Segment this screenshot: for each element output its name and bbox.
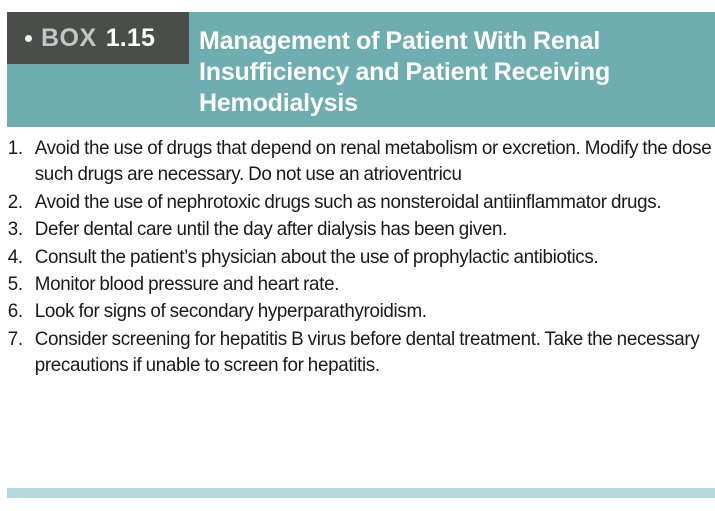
- list-item: 5. Monitor blood pressure and heart rate…: [0, 271, 715, 297]
- footer-rule: [7, 488, 715, 498]
- list-item-marker: 7.: [8, 326, 33, 352]
- bullet-dot-icon: [25, 35, 32, 42]
- list-item-text: Avoid the use of nephrotoxic drugs such …: [35, 189, 715, 215]
- list-item-text: Defer dental care until the day after di…: [35, 216, 715, 242]
- list-item: 3. Defer dental care until the day after…: [0, 216, 715, 242]
- list-item: 7. Consider screening for hepatitis B vi…: [0, 326, 715, 379]
- box-number-label: BOX 1.15: [7, 12, 189, 64]
- list-item: 1. Avoid the use of drugs that depend on…: [0, 135, 715, 188]
- box-label-number: 1.15: [106, 24, 155, 53]
- list-item-text: Monitor blood pressure and heart rate.: [35, 271, 715, 297]
- list-item: 6. Look for signs of secondary hyperpara…: [0, 298, 715, 324]
- list-item: 4. Consult the patient’s physician about…: [0, 244, 715, 270]
- list-item-text: Avoid the use of drugs that depend on re…: [35, 135, 715, 188]
- list-item: 2. Avoid the use of nephrotoxic drugs su…: [0, 189, 715, 215]
- list-item-marker: 2.: [8, 189, 33, 215]
- box-header-band: BOX 1.15 Management of Patient With Rena…: [7, 12, 715, 127]
- list-item-text: Consider screening for hepatitis B virus…: [35, 326, 715, 379]
- box-title: Management of Patient With Renal Insuffi…: [199, 26, 715, 119]
- recommendation-list: 1. Avoid the use of drugs that depend on…: [0, 135, 715, 379]
- box-label-word: BOX: [41, 24, 97, 53]
- box-figure: BOX 1.15 Management of Patient With Rena…: [0, 0, 715, 511]
- box-body: 1. Avoid the use of drugs that depend on…: [0, 135, 715, 380]
- list-item-marker: 6.: [8, 298, 33, 324]
- list-item-text: Look for signs of secondary hyperparathy…: [35, 298, 715, 324]
- list-item-marker: 5.: [8, 271, 33, 297]
- list-item-marker: 1.: [8, 135, 33, 161]
- list-item-marker: 3.: [8, 216, 33, 242]
- list-item-text: Consult the patient’s physician about th…: [35, 244, 715, 270]
- list-item-marker: 4.: [8, 244, 33, 270]
